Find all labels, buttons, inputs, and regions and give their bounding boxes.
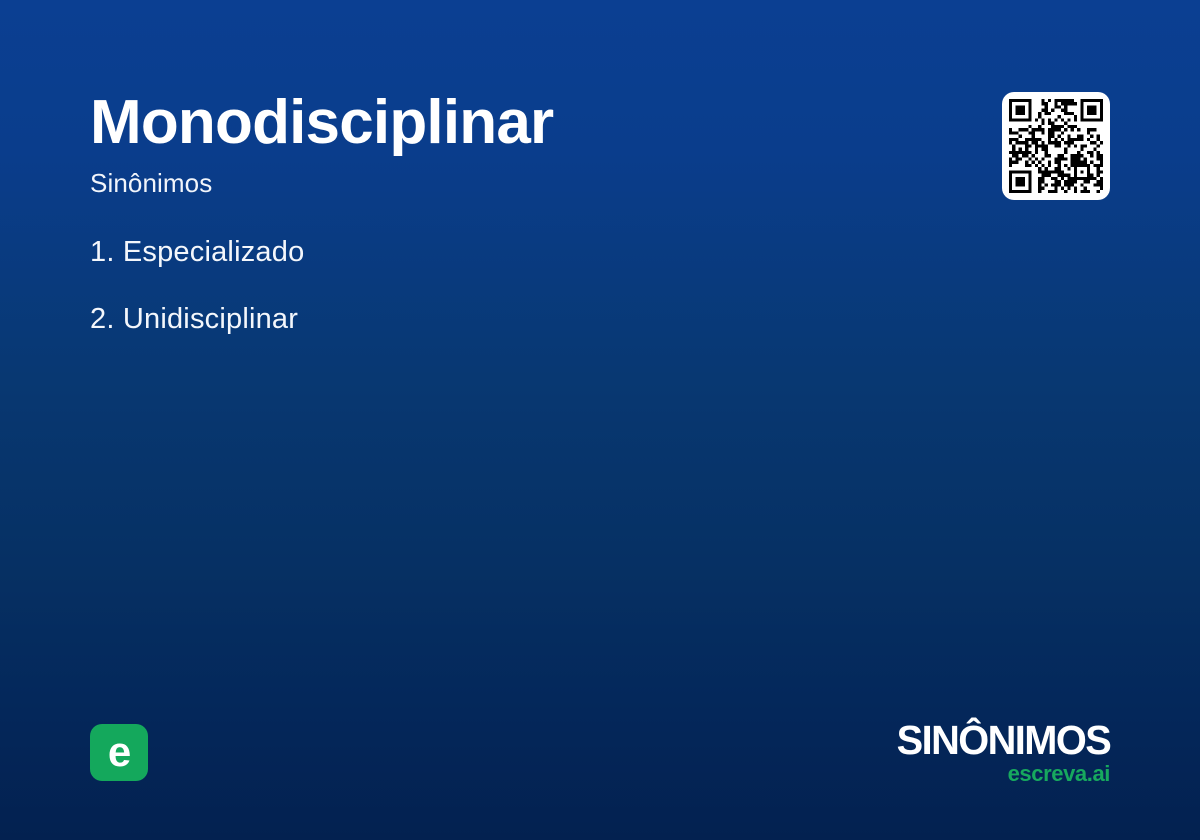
escreva-e-logo-icon[interactable]: e xyxy=(90,724,148,781)
list-item-index: 1. xyxy=(90,236,115,268)
list-item-label: Especializado xyxy=(123,236,305,268)
wordmark-primary: SINÔNIMOS xyxy=(896,722,1110,760)
list-item-index: 2. xyxy=(90,303,115,335)
synonym-card: Monodisciplinar Sinônimos 1. Especializa… xyxy=(0,0,1200,840)
qr-code-icon[interactable] xyxy=(1009,99,1103,193)
synonym-list: 1. Especializado 2. Unidisciplinar xyxy=(90,238,970,372)
list-item-label: Unidisciplinar xyxy=(123,303,298,335)
brand-wordmark: SINÔNIMOS escreva.ai xyxy=(890,722,1110,785)
section-label: Sinônimos xyxy=(90,170,970,196)
list-item: 2. Unidisciplinar xyxy=(90,305,970,334)
wordmark-secondary: escreva.ai xyxy=(890,763,1110,785)
brand-badge-letter: e xyxy=(108,731,130,773)
page-title: Monodisciplinar xyxy=(90,92,970,154)
qr-code-panel[interactable] xyxy=(1002,92,1110,200)
list-item: 1. Especializado xyxy=(90,238,970,267)
heading-block: Monodisciplinar Sinônimos xyxy=(90,92,970,196)
